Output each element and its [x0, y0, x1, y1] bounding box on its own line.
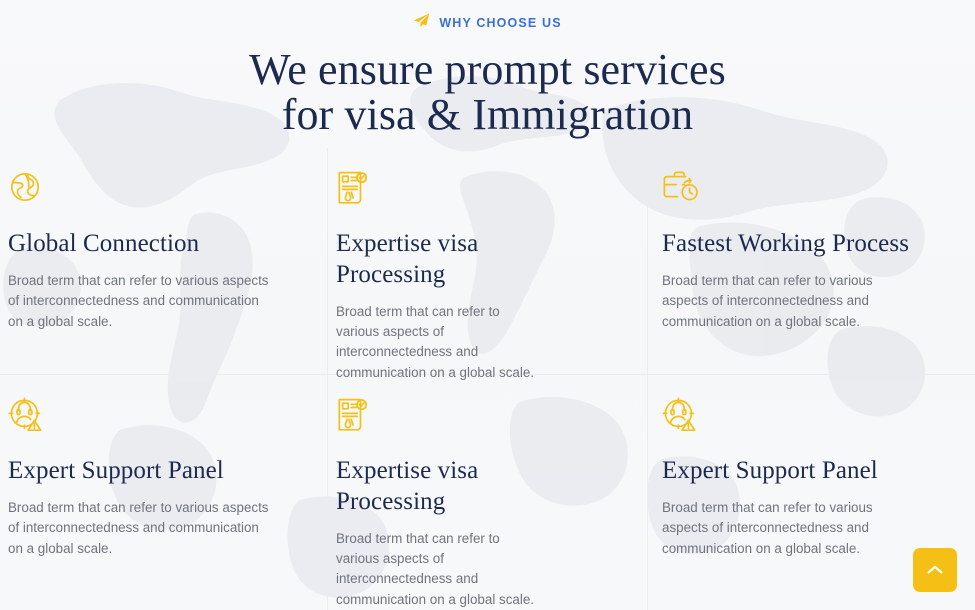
feature-card-title: Fastest Working Process — [662, 229, 921, 260]
feature-card-title: Expert Support Panel — [662, 456, 921, 487]
feature-grid: Global Connection Broad term that can re… — [0, 148, 975, 610]
feature-card-body: Broad term that can refer to various asp… — [662, 498, 921, 559]
scroll-to-top-button[interactable] — [913, 548, 957, 592]
support-agent-icon — [662, 397, 921, 437]
page-title-line-1: We ensure prompt services — [249, 45, 726, 94]
certificate-document-icon — [336, 170, 593, 210]
section-header: WHY CHOOSE US We ensure prompt services … — [0, 0, 975, 138]
feature-card-title: Global Connection — [8, 229, 273, 260]
chevron-up-icon — [927, 563, 943, 578]
page-title-line-2: for visa & Immigration — [0, 92, 975, 137]
feature-card-expertise-visa-processing: Expertise visa Processing Broad term tha… — [328, 148, 648, 375]
section-eyebrow-label: WHY CHOOSE US — [439, 17, 561, 30]
feature-card-global-connection: Global Connection Broad term that can re… — [0, 148, 328, 375]
feature-card-expertise-visa-processing-2: Expertise visa Processing Broad term tha… — [328, 375, 648, 610]
page-title: We ensure prompt services for visa & Imm… — [0, 47, 975, 138]
certificate-document-icon — [336, 397, 593, 437]
feature-card-title: Expert Support Panel — [8, 456, 273, 487]
why-choose-us-section: WHY CHOOSE US We ensure prompt services … — [0, 0, 975, 610]
feature-card-expert-support-panel-1: Expert Support Panel Broad term that can… — [0, 375, 328, 610]
globe-icon — [8, 170, 273, 210]
support-agent-icon — [8, 397, 273, 437]
feature-card-body: Broad term that can refer to various asp… — [8, 271, 273, 332]
briefcase-clock-icon — [662, 170, 921, 210]
feature-card-body: Broad term that can refer to various asp… — [662, 271, 921, 332]
feature-card-fastest-working-process: Fastest Working Process Broad term that … — [648, 148, 975, 375]
feature-card-body: Broad term that can refer to various asp… — [8, 498, 273, 559]
section-eyebrow: WHY CHOOSE US — [0, 13, 975, 33]
feature-card-body: Broad term that can refer to various asp… — [336, 529, 544, 610]
paper-plane-icon — [413, 13, 430, 33]
feature-card-title: Expertise visa Processing — [336, 456, 593, 518]
feature-card-body: Broad term that can refer to various asp… — [336, 302, 544, 384]
feature-card-title: Expertise visa Processing — [336, 229, 593, 291]
